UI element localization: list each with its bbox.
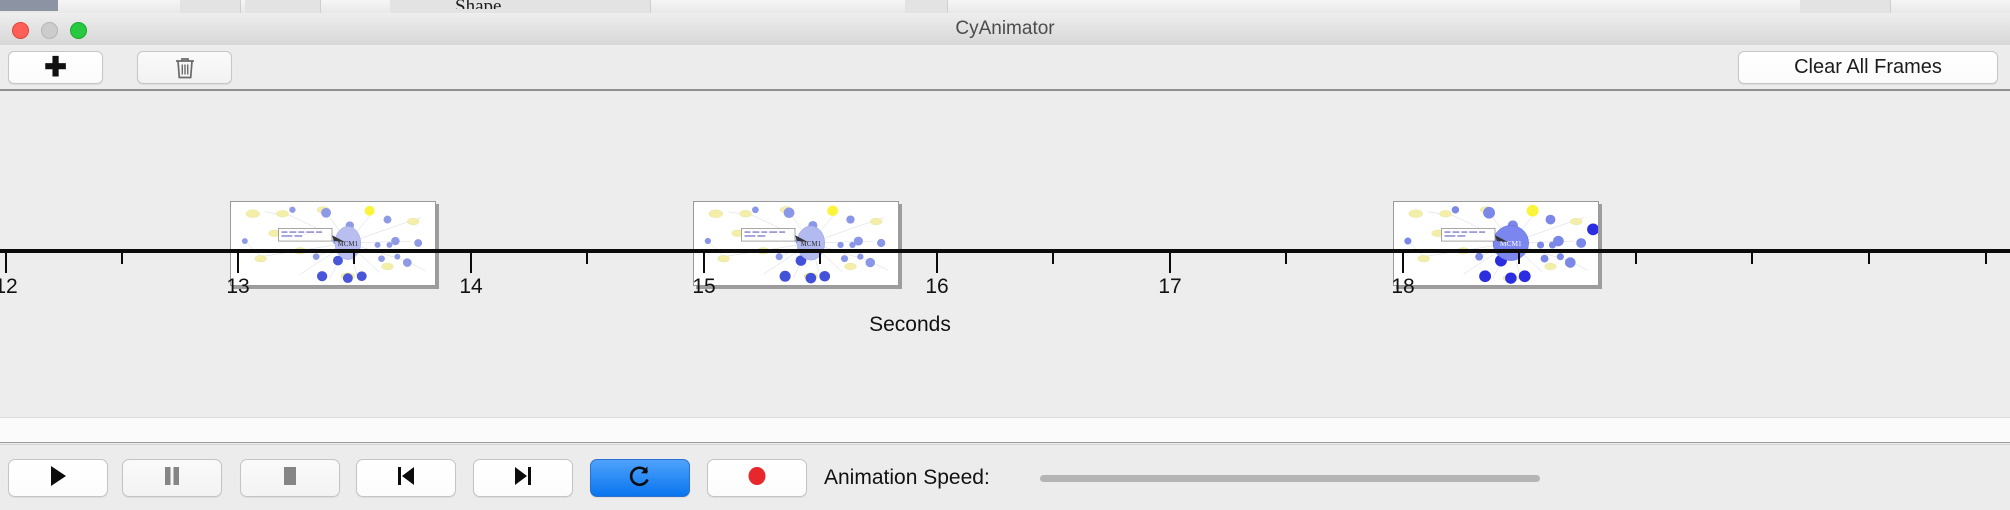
- loop-button[interactable]: [590, 459, 690, 497]
- skip-forward-icon: [512, 464, 534, 493]
- axis-tick-label: 17: [1140, 275, 1200, 299]
- background-titlebar-chip: [0, 0, 58, 11]
- axis-tick-major: [703, 253, 705, 273]
- animation-speed-slider-track[interactable]: [1040, 475, 1540, 482]
- skip-back-icon: [395, 464, 417, 493]
- axis-tick-minor: [586, 253, 588, 264]
- play-button[interactable]: [8, 459, 108, 497]
- background-toolbar-chip: [1800, 0, 1891, 13]
- axis-tick-label: 14: [441, 275, 501, 299]
- stop-icon: [280, 464, 300, 493]
- animation-speed-label: Animation Speed:: [824, 459, 990, 497]
- toolbar: ✚ Clear All Frames: [0, 45, 2010, 89]
- playback-control-bar: Animation Speed:: [0, 444, 2010, 510]
- axis-tick-minor: [1285, 253, 1287, 264]
- frames-area[interactable]: MCM1: [0, 91, 2010, 251]
- window-title: CyAnimator: [0, 13, 2010, 45]
- timeline-scrollbar-track[interactable]: [0, 417, 2010, 443]
- background-toolbar-chip: [390, 0, 651, 13]
- frame-thumbnail-1[interactable]: MCM1: [230, 201, 436, 286]
- cyanimator-window: Shape CyAnimator ✚ Clear All Frames: [0, 0, 2010, 510]
- svg-text:MCM1: MCM1: [338, 241, 359, 248]
- plus-icon: ✚: [44, 54, 67, 81]
- axis-tick-minor: [1985, 253, 1987, 264]
- skip-to-end-button[interactable]: [473, 459, 573, 497]
- axis-tick-major: [1169, 253, 1171, 273]
- title-bar: CyAnimator: [0, 13, 2010, 46]
- play-icon: [47, 464, 69, 493]
- axis-tick-label: 13: [208, 275, 268, 299]
- timeline-axis: [0, 249, 2010, 253]
- skip-to-start-button[interactable]: [356, 459, 456, 497]
- background-toolbar-chip: [905, 0, 948, 13]
- pause-icon: [162, 464, 182, 493]
- axis-tick-major: [5, 253, 7, 273]
- background-toolbar-chip: [180, 0, 241, 13]
- clear-all-frames-button[interactable]: Clear All Frames: [1738, 51, 1998, 84]
- pause-button[interactable]: [122, 459, 222, 497]
- record-button[interactable]: [707, 459, 807, 497]
- axis-tick-major: [1402, 253, 1404, 273]
- axis-tick-major: [470, 253, 472, 273]
- record-icon: [745, 464, 769, 493]
- loop-icon: [628, 464, 652, 493]
- axis-tick-label: 12: [0, 275, 36, 299]
- axis-tick-label: 18: [1373, 275, 1433, 299]
- axis-tick-minor: [1052, 253, 1054, 264]
- stop-button[interactable]: [240, 459, 340, 497]
- axis-tick-minor: [1635, 253, 1637, 264]
- timeline-panel[interactable]: MCM1: [0, 89, 2010, 417]
- axis-tick-label: 15: [674, 275, 734, 299]
- axis-tick-minor: [121, 253, 123, 264]
- delete-frame-button[interactable]: [137, 51, 232, 84]
- axis-title: Seconds: [0, 313, 1820, 337]
- background-window-label: Shape: [455, 0, 501, 9]
- background-window-strip: Shape: [0, 0, 2010, 14]
- axis-tick-major: [237, 253, 239, 273]
- axis-tick-minor: [1868, 253, 1870, 264]
- trash-icon: [174, 56, 196, 80]
- axis-tick-minor: [819, 253, 821, 264]
- frame-thumbnail-2[interactable]: MCM1: [693, 201, 899, 286]
- axis-tick-label: 16: [907, 275, 967, 299]
- axis-tick-minor: [353, 253, 355, 264]
- add-frame-button[interactable]: ✚: [8, 51, 103, 84]
- frame-thumbnail-3[interactable]: MCM1: [1393, 201, 1599, 286]
- axis-tick-minor: [1518, 253, 1520, 264]
- background-toolbar-chip: [245, 0, 321, 13]
- axis-tick-minor: [1751, 253, 1753, 264]
- axis-tick-major: [936, 253, 938, 273]
- svg-text:MCM1: MCM1: [801, 241, 822, 248]
